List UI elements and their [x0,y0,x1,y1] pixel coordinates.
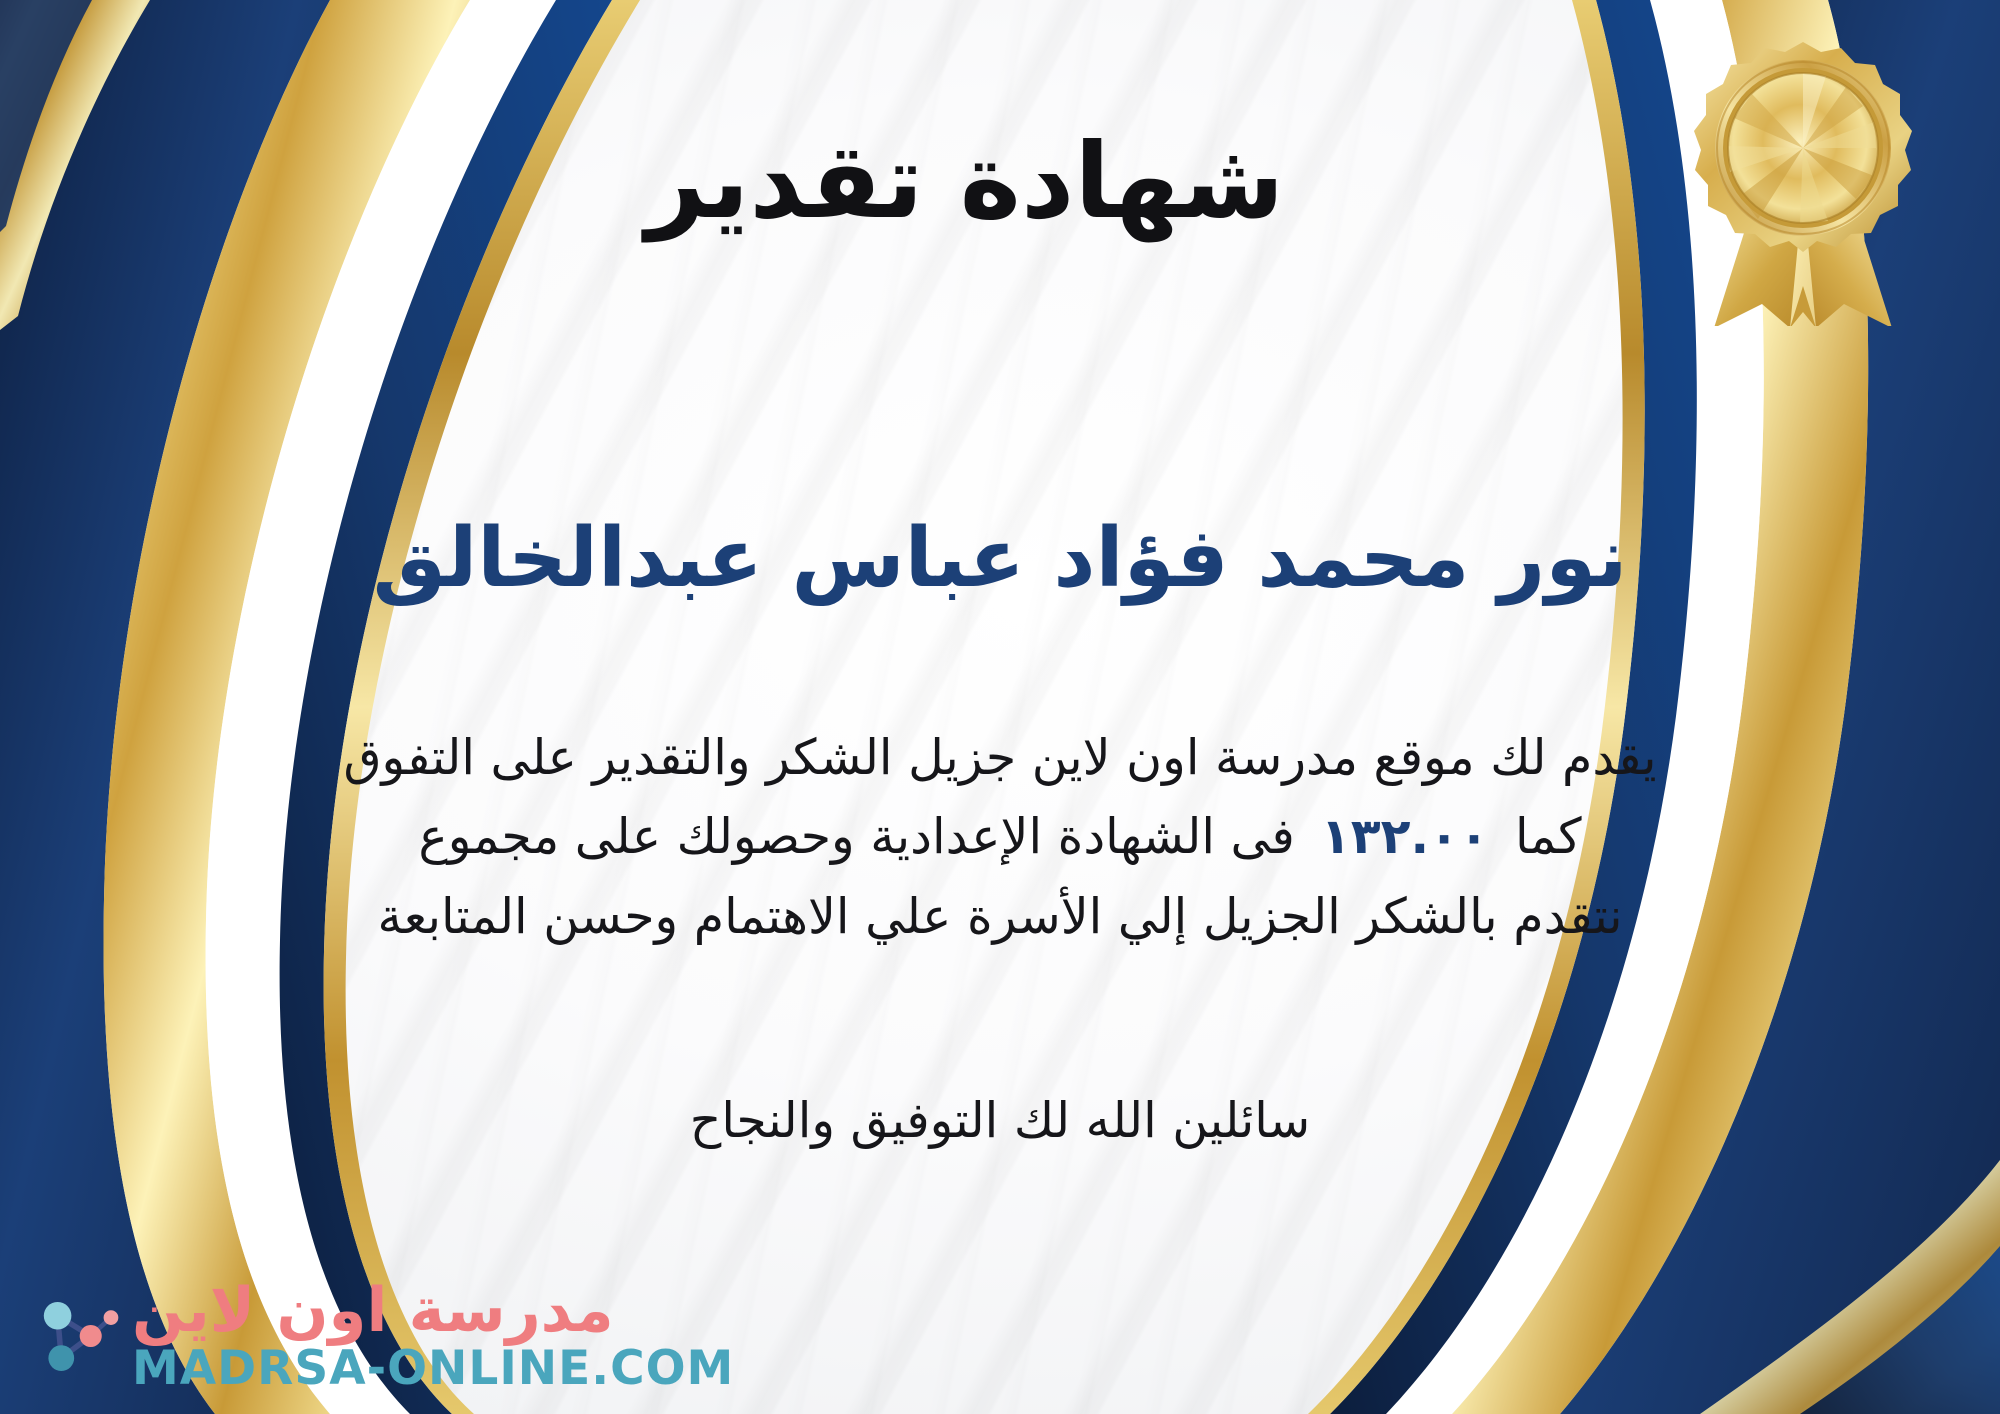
body-line-3: نتقدم بالشكر الجزيل إلي الأسرة علي الاهت… [62,877,1938,956]
logo-domain: MADRSA-ONLINE.COM [132,1345,734,1392]
body-line-1: يقدم لك موقع مدرسة اون لاين جزيل الشكر و… [62,718,1938,797]
body-line-2: كما١٣٢.٠٠فى الشهادة الإعدادية وحصولك على… [62,797,1938,876]
brand-logo[interactable]: مدرسة اون لاين MADRSA-ONLINE.COM [30,1280,734,1392]
certificate-page: شهادة تقدير نور محمد فؤاد عباس عبدالخالق… [0,0,2000,1414]
logo-text-group: مدرسة اون لاين MADRSA-ONLINE.COM [132,1280,734,1392]
recipient-name: نور محمد فؤاد عباس عبدالخالق [0,508,2000,611]
body-line-2-suffix: كما [1515,808,1582,865]
total-score-value: ١٣٢.٠٠ [1295,808,1515,865]
logo-arabic-name: مدرسة اون لاين [132,1280,614,1341]
body-line-2-prefix: فى الشهادة الإعدادية وحصولك على مجموع [418,808,1294,865]
network-nodes-icon [30,1290,122,1382]
certificate-body: يقدم لك موقع مدرسة اون لاين جزيل الشكر و… [62,718,1938,956]
closing-line: سائلين الله لك التوفيق والنجاح [0,1092,2000,1149]
gold-award-medal-icon [1678,36,1928,326]
